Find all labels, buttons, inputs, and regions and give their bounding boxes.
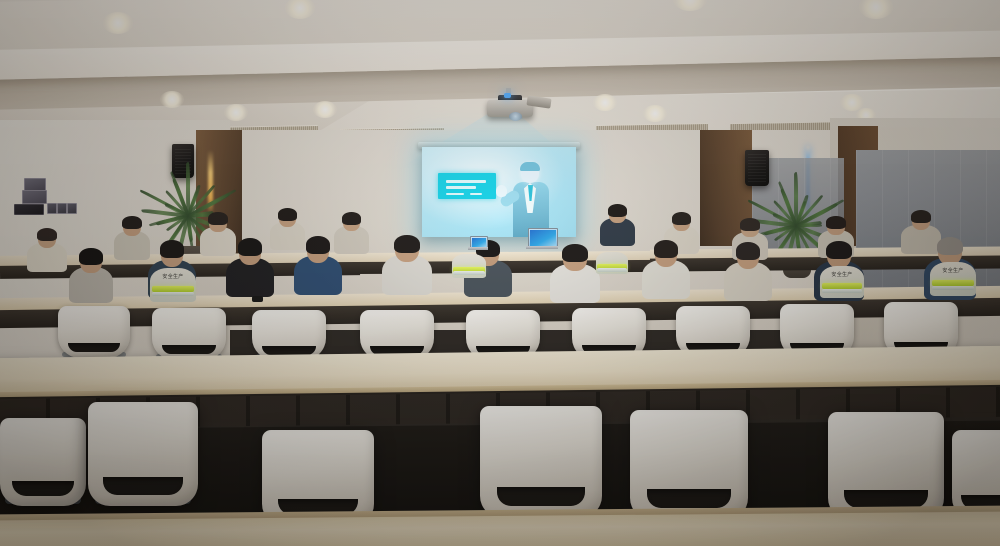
chair-handle-cutout — [68, 343, 120, 352]
hi-vis-vest: 安全生产 — [820, 266, 864, 298]
smartphone-on-desk[interactable] — [252, 296, 263, 302]
hi-vis-vest: 安全生产 — [930, 262, 976, 296]
person-hair — [937, 237, 964, 256]
person-hair — [208, 212, 227, 225]
chair[interactable] — [88, 402, 198, 506]
slide-text-line — [446, 180, 486, 183]
person-hair — [736, 242, 760, 259]
person-hair — [654, 240, 678, 257]
chair-handle-cutout — [162, 345, 215, 354]
chair-handle-cutout — [103, 477, 182, 495]
attendee — [32, 228, 62, 268]
slide-presenter-figure — [508, 163, 556, 237]
presenter-hair — [520, 162, 540, 171]
vest-reflective-stripe — [597, 268, 626, 272]
person-hair — [306, 236, 330, 253]
chair-backrest — [480, 406, 602, 518]
ceiling-downlight — [643, 105, 667, 122]
attendee — [604, 204, 631, 242]
person-hair — [740, 218, 759, 230]
attendee — [118, 216, 146, 256]
outlet-plate-3[interactable] — [67, 203, 77, 214]
person-hair — [278, 208, 297, 220]
hi-vis-vest — [596, 252, 628, 274]
person-hair — [608, 204, 627, 216]
laptop-base — [468, 247, 488, 250]
ceiling-downlight — [160, 91, 184, 108]
laptop-screen — [472, 238, 486, 247]
chair[interactable] — [58, 306, 130, 358]
outlet-plate-1[interactable] — [47, 203, 57, 214]
vest-text-label: 安全生产 — [930, 269, 976, 274]
person-hair — [238, 238, 262, 255]
attendee-security-black — [232, 238, 268, 292]
chair[interactable] — [828, 412, 944, 520]
presenter-hand — [496, 185, 507, 197]
slide-text-line — [446, 186, 476, 189]
chair-backrest — [88, 402, 198, 506]
chair-handle-cutout — [262, 346, 315, 355]
person-hair — [122, 216, 141, 229]
person-hair — [672, 212, 691, 224]
person-hair — [826, 216, 845, 228]
chair[interactable] — [152, 308, 226, 360]
projector-status-led-icon — [504, 93, 511, 98]
attendee-white-tee — [648, 240, 684, 294]
vest-reflective-stripe — [152, 292, 194, 296]
vest-reflective-stripe — [932, 280, 974, 286]
chair[interactable] — [0, 418, 86, 506]
laptop-screen — [530, 230, 556, 246]
person-hair — [342, 212, 361, 224]
chair-handle-cutout — [12, 481, 74, 496]
hi-vis-vest: 安全生产 — [150, 268, 196, 302]
chair[interactable] — [630, 410, 748, 520]
chair-backrest — [0, 418, 86, 506]
slide-text-line — [470, 193, 482, 195]
outlet-plate-2[interactable] — [57, 203, 67, 214]
attendee-striped — [388, 234, 426, 290]
chair-backrest — [252, 310, 326, 360]
ceiling-downlight — [313, 101, 337, 118]
person-hair — [160, 240, 184, 257]
vest-text-label: 安全生产 — [820, 273, 864, 278]
attendee — [204, 212, 232, 252]
chair-handle-cutout — [497, 487, 585, 506]
ceiling-downlight — [103, 12, 134, 34]
projector-lens — [509, 112, 522, 121]
conference-room-photo: 安全生产安全生产安全生产 — [0, 0, 1000, 546]
attendee-cream — [730, 242, 766, 296]
projection-screen — [422, 147, 576, 237]
person-hair — [37, 228, 58, 241]
chair-backrest — [828, 412, 944, 520]
vest-reflective-stripe — [932, 286, 974, 290]
chair-handle-cutout — [844, 490, 928, 508]
hi-vis-vest — [452, 254, 486, 278]
attendee-blue-shirt — [300, 236, 336, 290]
slide-text-line — [446, 193, 464, 195]
person-hair — [562, 244, 588, 261]
vest-text-label: 安全生产 — [150, 275, 196, 280]
chair-backrest — [630, 410, 748, 520]
vest-reflective-stripe — [453, 271, 484, 275]
person-hair — [911, 210, 932, 223]
presenter-laptop[interactable] — [528, 228, 558, 248]
chair-backrest — [58, 306, 130, 358]
laptop-base — [526, 246, 558, 249]
vest-reflective-stripe — [152, 286, 194, 292]
chair-handle-cutout — [647, 489, 732, 508]
attendee-white-polo — [556, 244, 594, 298]
power-outlet-bank[interactable] — [14, 204, 44, 215]
vest-reflective-stripe — [822, 289, 862, 293]
person-hair — [79, 248, 102, 264]
person-hair — [394, 235, 420, 253]
ceiling-downlight — [224, 104, 248, 121]
attendee — [338, 212, 365, 250]
person-hair — [826, 241, 852, 259]
chair[interactable] — [252, 310, 326, 360]
av-control-panel-lower[interactable] — [22, 190, 47, 204]
chair[interactable] — [480, 406, 602, 518]
attendee — [274, 208, 301, 246]
ceiling-downlight — [593, 94, 617, 111]
attendee — [74, 248, 108, 298]
chair-backrest — [152, 308, 226, 360]
